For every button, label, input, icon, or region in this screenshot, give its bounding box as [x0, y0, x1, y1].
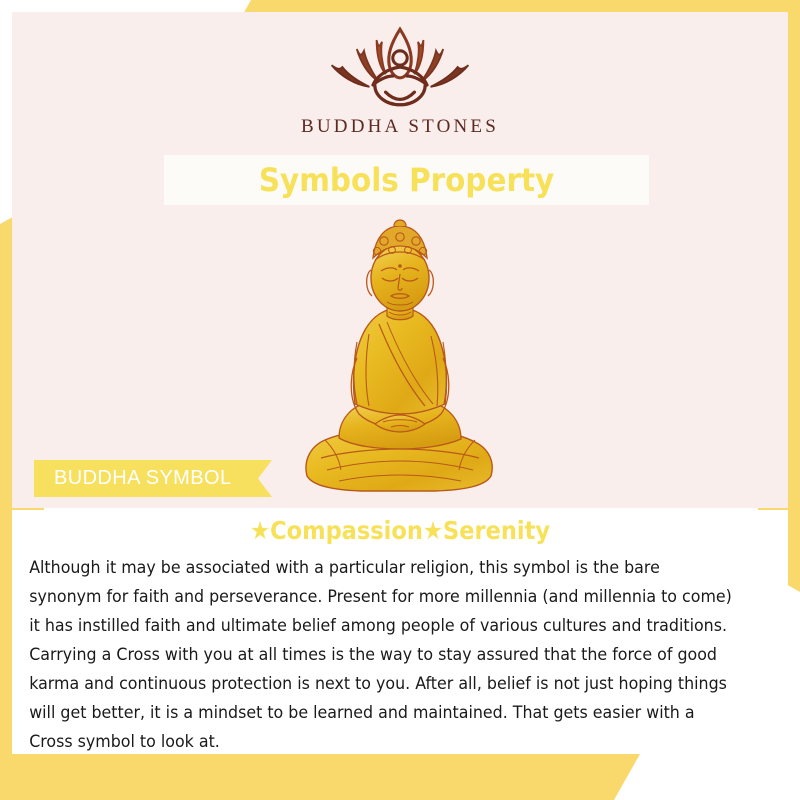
- description-section: ★Compassion★Serenity Although it may be …: [12, 510, 788, 754]
- attribute-compassion: Compassion: [270, 516, 423, 545]
- star-icon-right: ★: [423, 516, 443, 545]
- seated-buddha-illustration: [295, 208, 505, 498]
- brand-name: BUDDHA STONES: [301, 116, 499, 138]
- page-title-band: Symbols Property: [164, 155, 649, 205]
- buddha-symbol-ribbon: BUDDHA SYMBOL: [34, 460, 272, 497]
- lotus-meditation-icon: [310, 22, 490, 114]
- star-icon-left: ★: [250, 516, 270, 545]
- hero-panel: BUDDHA STONES Symbols Property: [12, 12, 788, 508]
- description-paragraph: Although it may be associated with a par…: [12, 545, 753, 756]
- frame-accent-bottom: [0, 754, 640, 800]
- ribbon-label: BUDDHA SYMBOL: [34, 467, 231, 490]
- attributes-headline: ★Compassion★Serenity: [51, 510, 749, 545]
- attribute-serenity: Serenity: [443, 516, 550, 545]
- brand-logo: BUDDHA STONES: [12, 22, 788, 138]
- product-info-graphic: BUDDHA STONES Symbols Property: [0, 0, 800, 800]
- page-title: Symbols Property: [259, 161, 554, 199]
